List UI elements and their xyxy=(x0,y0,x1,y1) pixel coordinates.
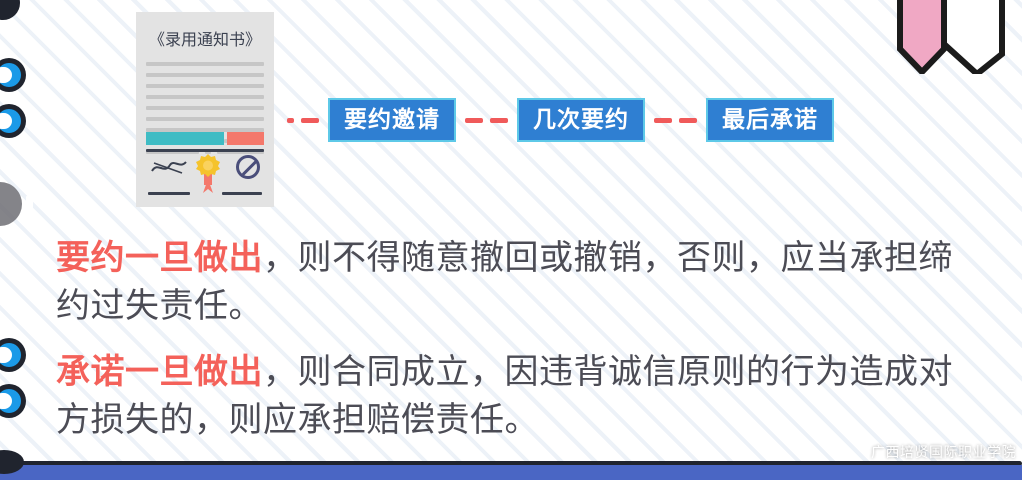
dash-segment xyxy=(287,118,294,123)
offer-letter-document: 《录用通知书》 xyxy=(136,12,274,207)
document-footer xyxy=(146,149,264,201)
document-color-bars xyxy=(146,132,264,145)
frame-bottom-band xyxy=(0,465,1022,480)
flow-connector xyxy=(645,118,706,123)
paragraph-acceptance: 承诺一旦做出，则合同成立，因违背诚信原则的行为造成对方损失的，则应承担赔偿责任。 xyxy=(56,348,986,445)
flow-step-2[interactable]: 几次要约 xyxy=(517,98,645,142)
document-line xyxy=(146,84,264,88)
watermark-label: 广西培贤国际职业学院 xyxy=(871,442,1016,462)
prohibition-stamp-icon xyxy=(236,155,260,179)
paragraph-offer: 要约一旦做出，则不得随意撤回或撤销，否则，应当承担缔约过失责任。 xyxy=(56,234,986,331)
decorative-ribbon-shape xyxy=(882,0,1022,74)
dash-segment xyxy=(654,118,672,123)
document-title: 《录用通知书》 xyxy=(136,12,274,50)
document-line xyxy=(146,95,264,99)
flow-step-1-label: 要约邀请 xyxy=(344,109,440,132)
document-bar-salmon xyxy=(227,132,264,145)
paragraph-1-highlight: 要约一旦做出 xyxy=(56,238,263,278)
document-bar-teal xyxy=(146,132,224,145)
gold-award-seal-icon xyxy=(194,153,222,181)
dash-segment xyxy=(679,118,697,123)
binder-ring-hole xyxy=(0,393,12,409)
flow-connector xyxy=(456,118,517,123)
dash-segment xyxy=(490,118,508,123)
flow-step-2-label: 几次要约 xyxy=(533,109,629,132)
document-line xyxy=(146,73,264,77)
flow-step-3[interactable]: 最后承诺 xyxy=(706,98,834,142)
handwritten-signature-icon xyxy=(150,157,188,177)
paragraph-2-highlight: 承诺一旦做出 xyxy=(56,352,263,392)
flow-step-3-label: 最后承诺 xyxy=(722,109,818,132)
signature-rule xyxy=(148,192,190,195)
flow-step-1[interactable]: 要约邀请 xyxy=(328,98,456,142)
slide-canvas: 《录用通知书》 xyxy=(0,0,1022,480)
bookmark-badge-glyph xyxy=(26,196,33,211)
flow-chain: 要约邀请 几次要约 最后承诺 xyxy=(278,96,834,144)
stamp-rule xyxy=(222,192,262,195)
document-line xyxy=(146,117,264,121)
footer-rule xyxy=(146,149,264,152)
flow-connector xyxy=(278,118,328,123)
binder-ring-hole xyxy=(0,113,12,129)
document-line xyxy=(146,62,264,66)
binder-ring-hole xyxy=(0,347,12,363)
dash-segment xyxy=(465,118,483,123)
dash-segment xyxy=(301,118,319,123)
document-line xyxy=(146,106,264,110)
binder-ring-hole xyxy=(0,67,12,83)
